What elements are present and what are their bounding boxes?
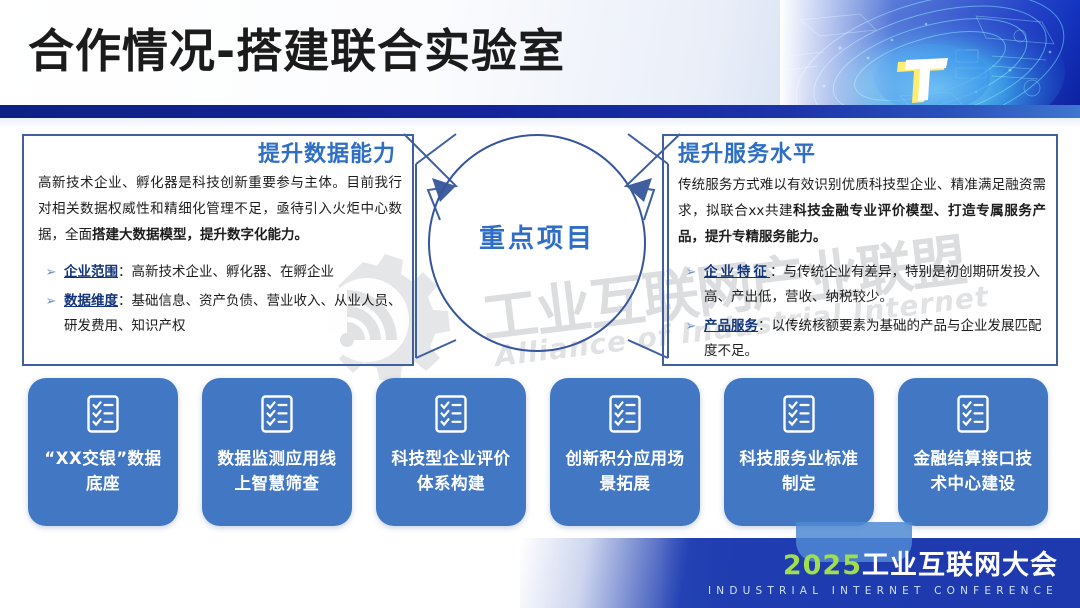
bullet-text: 数据维度：基础信息、资产负债、营业收入、从业人员、研发费用、知识产权 [64,289,404,339]
right-panel: 提升服务水平 传统服务方式难以有效识别优质科技型企业、精准满足融资需求，拟联合x… [662,134,1058,366]
bullet-label: 数据维度 [64,293,118,309]
checklist-icon [956,394,990,438]
bullet-label: 产品服务 [704,318,758,334]
right-panel-body: 传统服务方式难以有效识别优质科技型企业、精准满足融资需求，拟联合xx共建科技金融… [678,172,1046,250]
bullet-separator: ： [758,318,772,334]
bullet-separator: ： [770,264,784,280]
bullet-separator: ： [118,293,132,309]
project-card-3[interactable]: 科技型企业评价体系构建 [376,378,526,526]
right-panel-bullets: ➢ 企业特征：与传统企业有差异，特别是初创期研发投入高、产出低，营收、纳税较少。… [678,260,1046,368]
project-card-label: 科技型企业评价体系构建 [385,446,517,496]
list-item: ➢ 企业特征：与传统企业有差异，特别是初创期研发投入高、产出低，营收、纳税较少。 [678,260,1046,310]
bullet-text: 企业特征：与传统企业有差异，特别是初创期研发投入高、产出低，营收、纳税较少。 [704,260,1046,310]
bullet-label: 企业范围 [64,264,118,280]
bullet-separator: ： [118,264,132,280]
header-under-shadow [0,118,1080,128]
list-item: ➢ 产品服务：以传统核额要素为基础的产品与企业发展匹配度不足。 [678,314,1046,364]
arrow-bullet-icon: ➢ [678,260,704,285]
list-item: ➢ 数据维度：基础信息、资产负债、营业收入、从业人员、研发费用、知识产权 [38,289,404,339]
project-card-label: 科技服务业标准制定 [733,446,865,496]
conference-logo-name: 工业互联网大会 [862,550,1058,581]
checklist-icon [434,394,468,438]
conference-logo-main: 2025工业互联网大会 [708,550,1058,582]
checklist-icon [782,394,816,438]
left-panel-body: 高新技术企业、孵化器是科技创新重要参与主体。目前我行对相关数据权威性和精细化管理… [38,170,402,248]
bullet-text: 产品服务：以传统核额要素为基础的产品与企业发展匹配度不足。 [704,314,1046,364]
arrow-bullet-icon: ➢ [38,289,64,314]
conference-logo-subtitle: INDUSTRIAL INTERNET CONFERENCE [708,583,1058,599]
project-card-6[interactable]: 金融结算接口技术中心建设 [898,378,1048,526]
slide-header: 合作情况-搭建联合实验室 [0,0,1080,105]
left-panel-body-bold: 搭建大数据模型，提升数字化能力。 [92,227,308,243]
project-card-label: 创新积分应用场景拓展 [559,446,691,496]
left-panel-bullets: ➢ 企业范围：高新技术企业、孵化器、在孵企业 ➢ 数据维度：基础信息、资产负债、… [38,260,404,343]
middle-section: 提升数据能力 高新技术企业、孵化器是科技创新重要参与主体。目前我行对相关数据权威… [0,128,1080,378]
page-title: 合作情况-搭建联合实验室 [28,18,565,84]
project-card-5[interactable]: 科技服务业标准制定 [724,378,874,526]
left-panel: 提升数据能力 高新技术企业、孵化器是科技创新重要参与主体。目前我行对相关数据权威… [22,134,414,366]
project-card-4[interactable]: 创新积分应用场景拓展 [550,378,700,526]
right-panel-title: 提升服务水平 [678,140,816,170]
list-item: ➢ 企业范围：高新技术企业、孵化器、在孵企业 [38,260,404,285]
conference-logo-year: 2025 [783,550,862,581]
bullet-text: 企业范围：高新技术企业、孵化器、在孵企业 [64,260,404,285]
bullet-body: 高新技术企业、孵化器、在孵企业 [132,264,335,280]
checklist-icon [608,394,642,438]
arrow-bullet-icon: ➢ [38,260,64,285]
slide-footer: 2025工业互联网大会 INDUSTRIAL INTERNET CONFEREN… [0,538,1080,608]
project-card-2[interactable]: 数据监测应用线上智慧筛查 [202,378,352,526]
tech-globe-artwork [780,0,1080,105]
globe-svg [780,0,1080,105]
checklist-icon [86,394,120,438]
slide-canvas: 合作情况-搭建联合实验室 工业互联网产业联盟 Alliance of Indus… [0,0,1080,608]
project-card-label: 数据监测应用线上智慧筛查 [211,446,343,496]
checklist-icon [260,394,294,438]
header-navy-divider [0,105,1080,118]
conference-logo: 2025工业互联网大会 INDUSTRIAL INTERNET CONFEREN… [708,550,1058,599]
project-card-label: “XX交银”数据底座 [37,446,169,496]
bullet-label: 企业特征 [704,264,770,280]
arrow-bullet-icon: ➢ [678,314,704,339]
project-card-row: “XX交银”数据底座 数据监测应用线上智慧筛查 科技型企业评价体系构建 创新积分… [0,378,1080,538]
project-card-1[interactable]: “XX交银”数据底座 [28,378,178,526]
project-card-label: 金融结算接口技术中心建设 [907,446,1039,496]
